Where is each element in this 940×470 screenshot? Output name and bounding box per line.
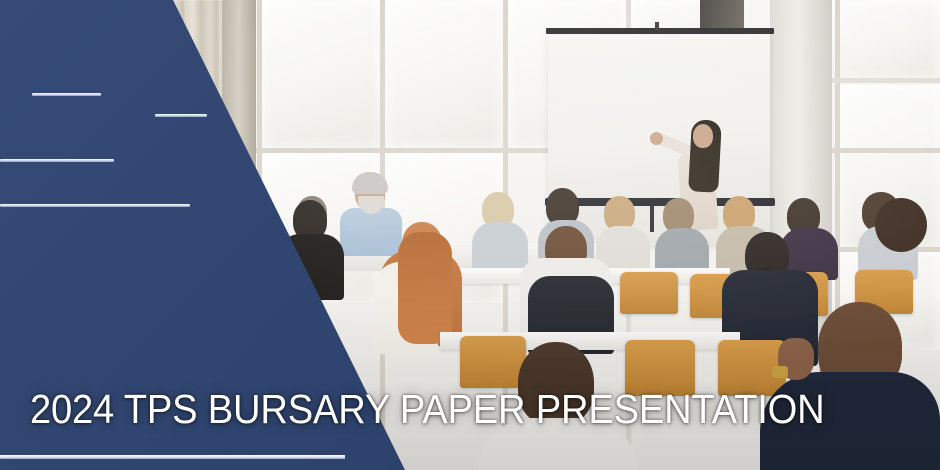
decorative-rule-4 [0,204,190,207]
presenter-head [693,124,713,148]
attendee-torso [340,208,402,256]
decorative-rule-1 [32,93,101,96]
decorative-rule-2 [155,114,207,117]
event-banner: 2024 TPS BURSARY PAPER PRESENTATION [0,0,940,470]
window-pane [262,0,380,148]
attendee-hair [398,232,452,344]
projection-screen-mount [655,22,659,30]
banner-title: 2024 TPS BURSARY PAPER PRESENTATION [30,388,825,431]
presenter-hand [650,132,663,145]
title-underline-rule [0,455,345,459]
decorative-rule-3 [0,159,114,162]
attendee-hair [352,172,388,194]
chair [460,336,526,388]
stage-rail-leg [650,206,654,232]
attendee-head [875,198,927,252]
window-pane [385,0,503,148]
attendee-torso [472,222,528,272]
projection-screen-top-bar [546,28,774,34]
wrist-watch [772,366,788,378]
chair [620,272,678,314]
